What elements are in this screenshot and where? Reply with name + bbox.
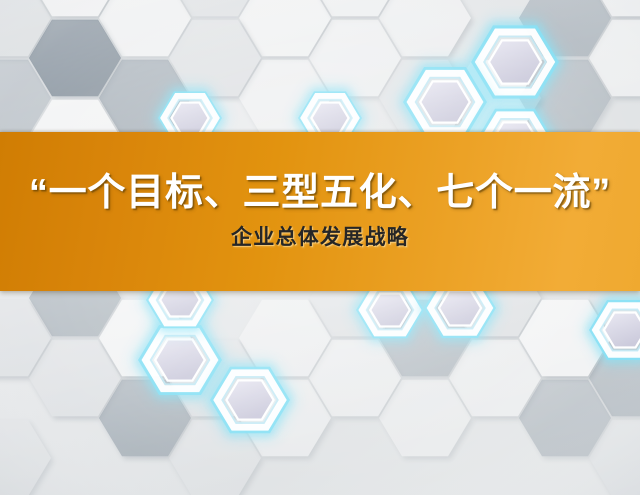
slide-canvas: “一个目标、三型五化、七个一流” 企业总体发展战略 — [0, 0, 640, 495]
banner-title: “一个目标、三型五化、七个一流” — [29, 174, 611, 214]
banner-subtitle: 企业总体发展战略 — [231, 226, 409, 249]
title-banner: “一个目标、三型五化、七个一流” 企业总体发展战略 — [0, 132, 640, 291]
